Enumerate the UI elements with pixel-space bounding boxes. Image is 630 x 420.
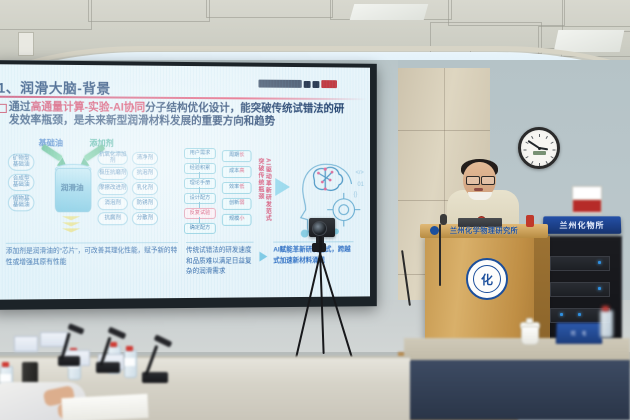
speaker-glasses-left [466, 176, 480, 185]
podium-logo: 化 [466, 258, 508, 300]
slide-watermark-toolbar [258, 80, 336, 89]
name-card: 姓 名 [556, 322, 603, 344]
flow-right-item: 效率低 [222, 182, 252, 194]
wall-clock [518, 127, 560, 169]
water-bottle [600, 310, 613, 338]
caption-arrow [259, 252, 267, 262]
podium-microphone-cable [439, 224, 441, 286]
right-table-front-panel [404, 360, 630, 420]
oil-drum-label: 润滑油 [55, 182, 90, 193]
slide-title: 1、润滑大脑-背景 [0, 76, 111, 97]
teacup-knob [526, 318, 533, 324]
teacup [521, 326, 539, 345]
podium-microphone-head [440, 214, 447, 225]
svg-text:</>: </> [355, 170, 364, 176]
title-underline [0, 96, 367, 100]
body-line1-suffix: 分子结构优化设计，能突破传统试错法的研 [145, 102, 344, 115]
venue-sign: 兰州化物所 [543, 216, 622, 233]
tripod-center-column [319, 236, 322, 252]
base-oil-item: 矿物型基础油 [8, 154, 35, 171]
additive-item: 分散剂 [132, 212, 158, 225]
speaker-glasses-right [481, 176, 495, 185]
svg-text:{}: {} [354, 192, 358, 198]
attendee-papers [61, 394, 148, 420]
flow-big-arrow [275, 178, 290, 196]
name-card-text: 姓 名 [571, 330, 588, 337]
base-oil-item: 合成型基础油 [8, 174, 35, 191]
clock-center-pin [538, 147, 541, 150]
podium-institute-name: 兰州化学物理研究所 [428, 226, 540, 236]
flow-left-item: 确定配方 [184, 223, 216, 234]
additive-item: 防锈剂 [132, 197, 158, 210]
left-caption: 添加剂是润滑油的“芯片”，可改善其理化性能，赋予新的特性或增强其原有性能 [6, 242, 178, 268]
slide-body-line2: 发效率瓶颈，是未来新型润滑材料发展的重要方向和趋势 [9, 114, 275, 128]
additive-item: 抗氧化添加剂 [98, 152, 128, 165]
right-caption-left: 传统试错法的研发速度和品质难以满足日益复杂的润滑需求 [186, 242, 254, 278]
additive-item: 清净剂 [132, 152, 158, 165]
flow-right-item: 规模小 [222, 214, 252, 226]
speaker-mouth [474, 188, 483, 191]
base-oil-item: 植物基基础油 [8, 194, 35, 211]
venue-sign-text: 兰州化物所 [559, 220, 604, 231]
additive-item: 乳化剂 [132, 182, 158, 195]
ceiling-speaker [18, 32, 34, 56]
camera-lens-icon [312, 221, 327, 236]
bullet-marker [0, 104, 7, 113]
svg-text:01: 01 [357, 182, 364, 188]
flow-right-item: 成本高 [222, 166, 252, 178]
clock-brand-mark [533, 151, 546, 155]
conference-room-photo: 1、润滑大脑-背景 通过高通量计算-实验-AI协同分子结构优化设计，能突破传统试… [0, 0, 630, 420]
name-card [14, 336, 38, 352]
additive-item: 抗泡剂 [132, 167, 158, 180]
additive-item: 摩擦改进剂 [98, 182, 128, 195]
safety-notice-sign [572, 186, 602, 214]
body-line1-prefix: 通过 [9, 101, 31, 113]
flow-right-item: 周期长 [222, 150, 252, 162]
slide-content: 1、润滑大脑-背景 通过高通量计算-实验-AI协同分子结构优化设计，能突破传统试… [0, 64, 370, 299]
body-line1-highlight: 高通量计算-实验-AI协同 [31, 101, 146, 114]
podium-logo-glyph: 化 [473, 265, 501, 293]
flow-vertical-label: AI驱动革新研发范式 突破传统瓶颈 [256, 158, 271, 224]
additive-item: 极压抗磨剂 [98, 167, 128, 180]
flow-right-item: 创新弱 [222, 198, 252, 210]
additive-item: 抗腐剂 [98, 212, 128, 225]
projected-slide: 1、润滑大脑-背景 通过高通量计算-实验-AI协同分子结构优化设计，能突破传统试… [0, 64, 370, 299]
additive-item: 消泡剂 [98, 197, 128, 210]
